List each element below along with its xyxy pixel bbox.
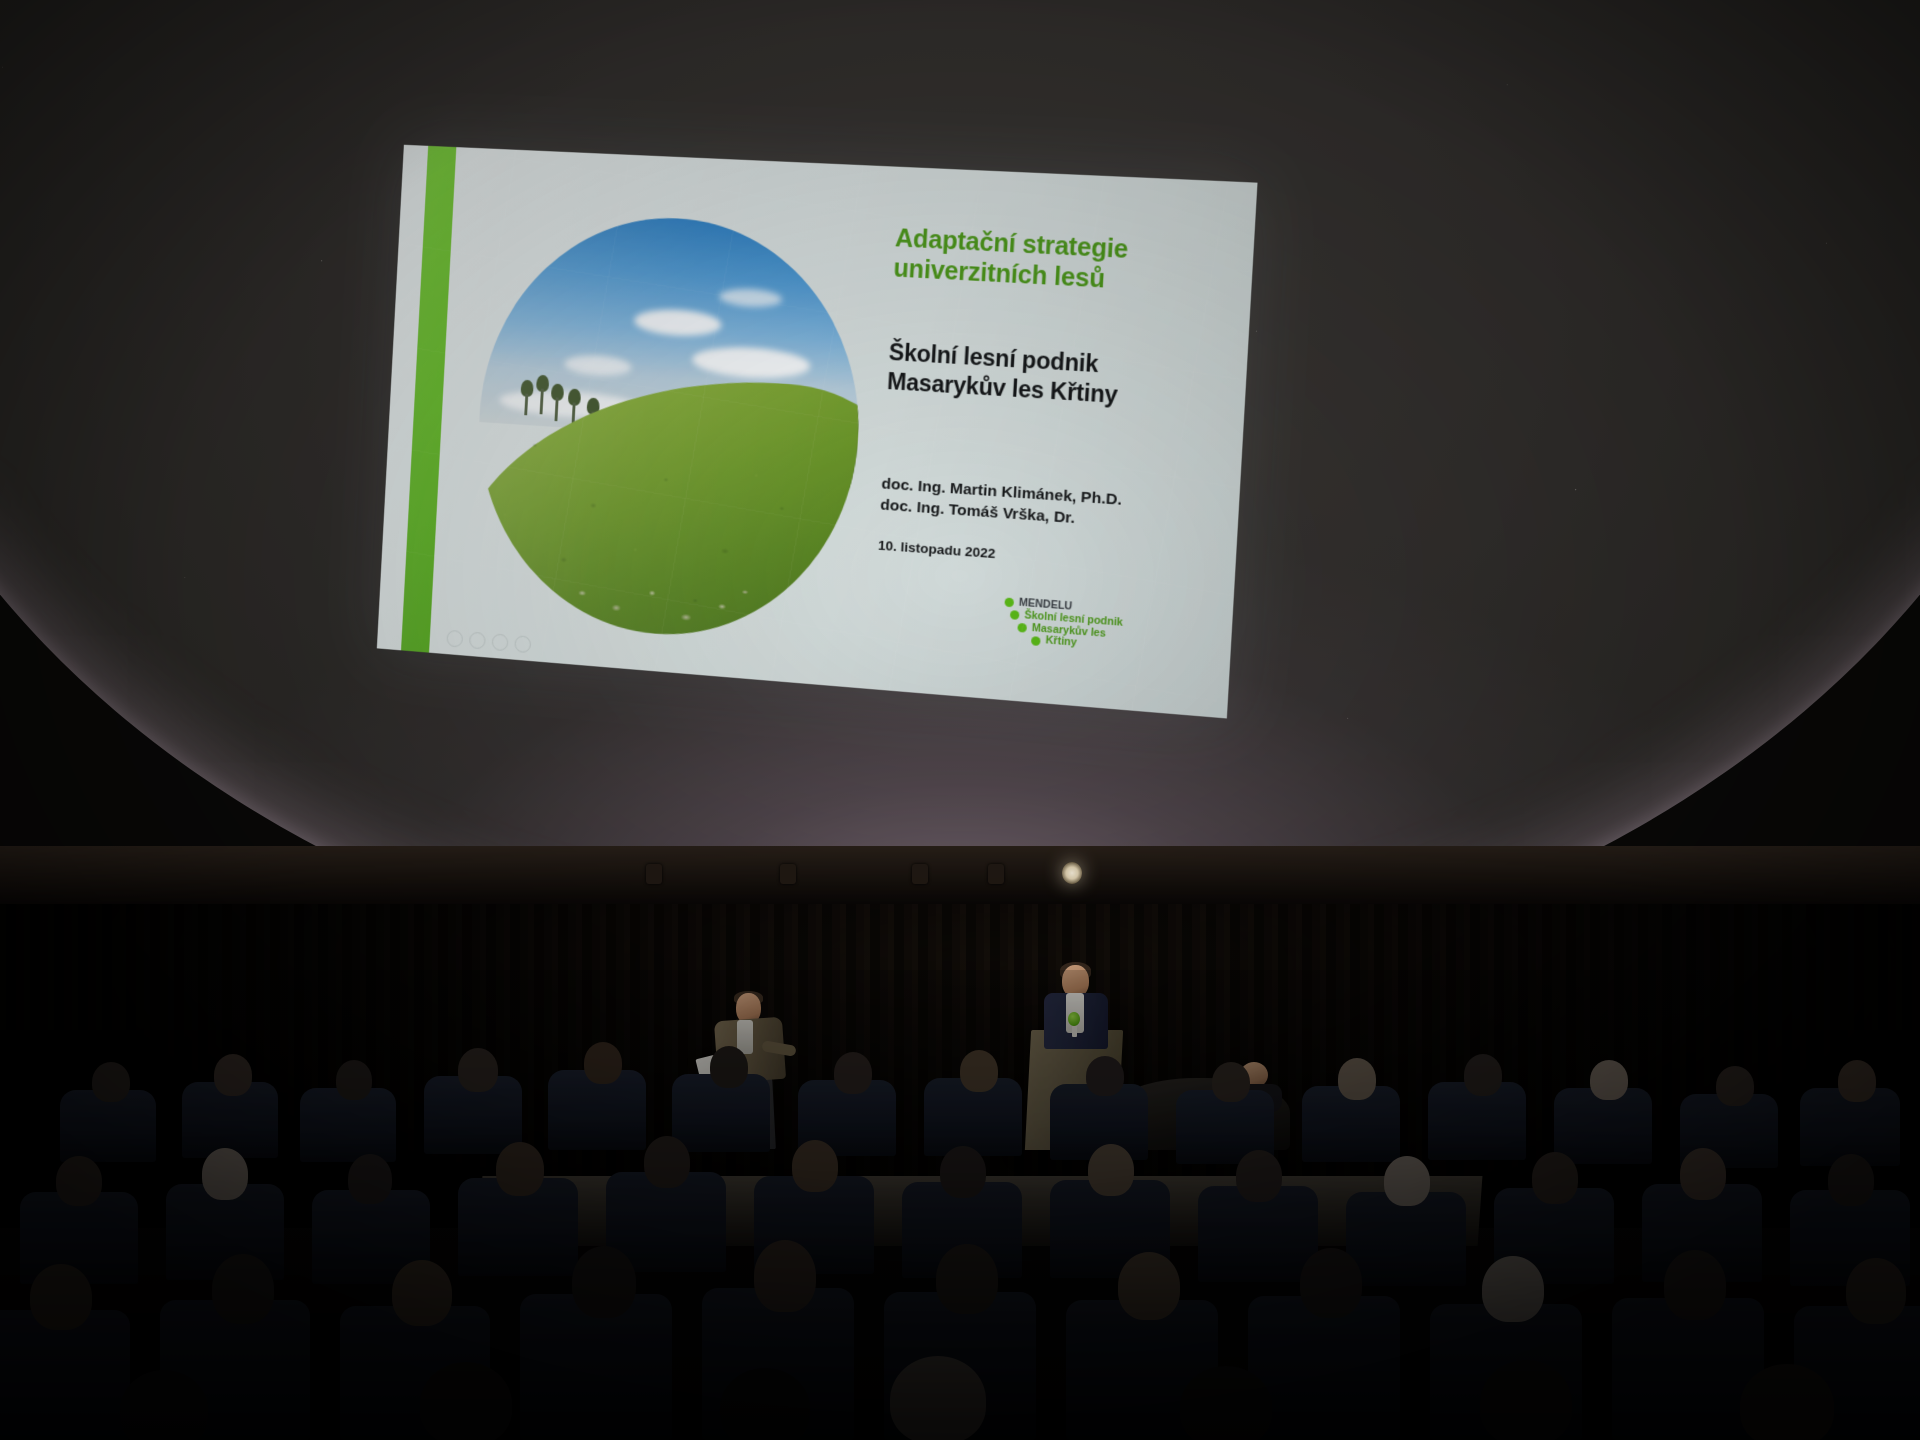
logo-dot-icon [1031, 636, 1041, 646]
spotlight-lit-icon [1062, 862, 1082, 884]
cc-nd-icon [514, 635, 531, 653]
cc-by-icon [469, 632, 486, 650]
slide-subtitle: Školní lesní podnik Masarykův les Křtiny [886, 338, 1228, 417]
cc-nc-icon [492, 633, 509, 651]
logo-dot-icon [1010, 610, 1020, 620]
projected-slide: Adaptační strategie univerzitních lesů Š… [377, 145, 1258, 719]
slide-canvas: Adaptační strategie univerzitních lesů Š… [377, 145, 1258, 719]
slide-authors: doc. Ing. Martin Klimánek, Ph.D. doc. In… [880, 474, 1221, 539]
screenshot-root: Adaptační strategie univerzitních lesů Š… [0, 0, 1920, 1440]
logo-dot-icon [1004, 598, 1014, 608]
lighting-rig [0, 846, 1920, 904]
spotlight-icon [912, 864, 928, 884]
logo-dot-icon [1017, 623, 1027, 633]
slide-green-accent-bar [401, 146, 456, 653]
mendelu-logo: MENDELU Školní lesní podnik Masarykův le… [1002, 596, 1222, 661]
slide-date: 10. listopadu 2022 [878, 538, 1217, 578]
slide-text-block: Adaptační strategie univerzitních lesů Š… [878, 223, 1236, 578]
audience-darkening [0, 970, 1920, 1440]
cc-icon [446, 630, 463, 648]
slide-title: Adaptační strategie univerzitních lesů [893, 223, 1236, 301]
creative-commons-marks [446, 630, 531, 653]
spotlight-icon [646, 864, 662, 884]
spotlight-icon [780, 864, 796, 884]
forest-photo-circle [469, 209, 870, 649]
audience [0, 970, 1920, 1440]
spotlight-icon [988, 864, 1004, 884]
logo-text-unit3: Křtiny [1045, 635, 1077, 649]
